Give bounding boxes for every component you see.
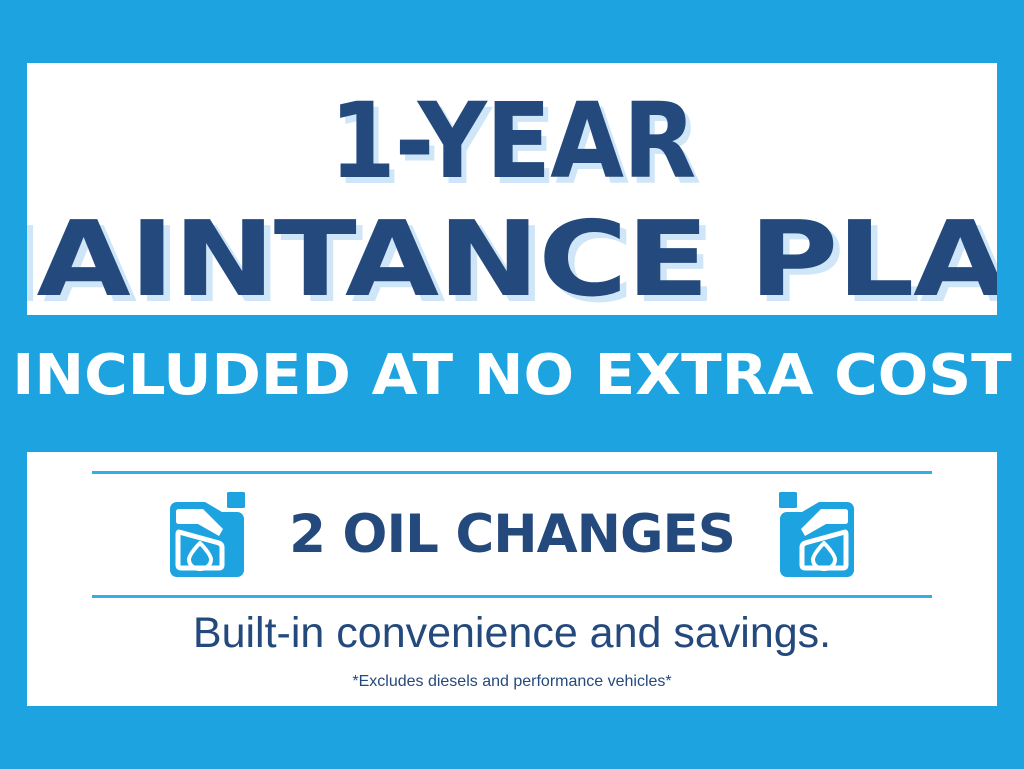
details-panel: 2 OIL CHANGES Built-in convenience and s… xyxy=(27,452,997,706)
divider-rule-top xyxy=(92,471,932,474)
oil-jug-icon-right xyxy=(775,488,859,580)
headline-line-1: 1-YEAR xyxy=(329,89,695,193)
offer-row: 2 OIL CHANGES xyxy=(27,478,997,590)
offer-label: 2 OIL CHANGES xyxy=(289,508,735,561)
oil-jug-icon-left xyxy=(165,488,249,580)
disclaimer: *Excludes diesels and performance vehicl… xyxy=(27,674,997,690)
headline-panel: 1-YEAR MAINTANCE PLAN xyxy=(27,63,997,315)
promo-poster: 1-YEAR MAINTANCE PLAN INCLUDED AT NO EXT… xyxy=(0,0,1024,769)
headline-line-2: MAINTANCE PLAN xyxy=(27,207,997,311)
tagline: Built-in convenience and savings. xyxy=(27,612,997,655)
subheading: INCLUDED AT NO EXTRA COST xyxy=(0,348,1024,404)
divider-rule-bottom xyxy=(92,595,932,598)
